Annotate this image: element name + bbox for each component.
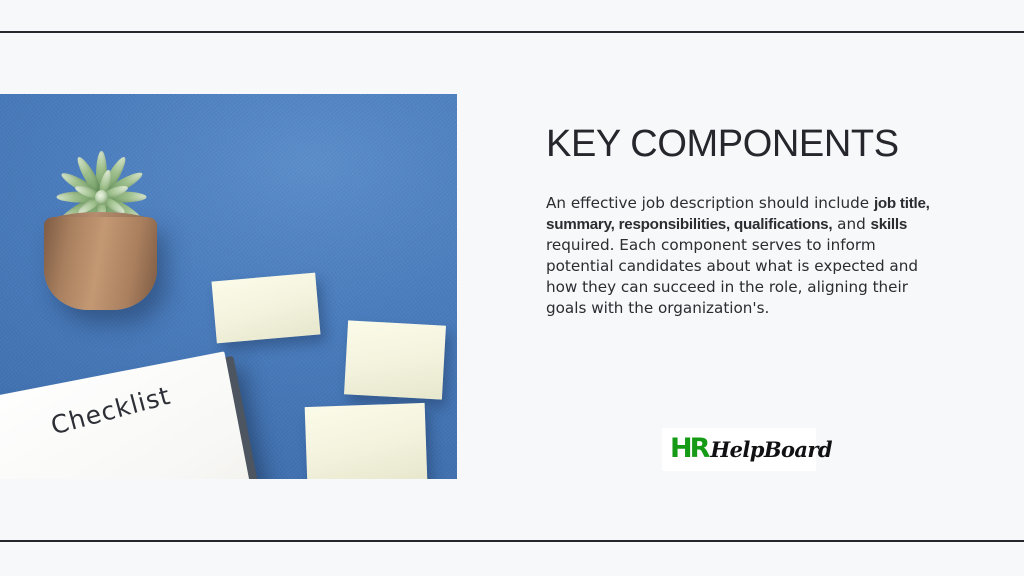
body-middle: and [832, 215, 870, 233]
hr-monogram-icon: HR [670, 435, 707, 462]
sticky-note [305, 403, 428, 479]
page-perforation [0, 407, 18, 479]
logo-wordmark: HelpBoard [710, 439, 832, 460]
bottom-divider-rule [0, 540, 1024, 542]
hero-photo: Checklist [0, 94, 457, 479]
body-tail: required. Each component serves to infor… [546, 236, 918, 317]
hrhelpboard-logo: HR HelpBoard [662, 428, 816, 471]
sticky-note [344, 320, 446, 399]
body-lead: An effective job description should incl… [546, 194, 874, 212]
sticky-note [211, 273, 320, 344]
page-title: KEY COMPONENTS [546, 123, 899, 166]
top-divider-rule [0, 31, 1024, 33]
body-paragraph: An effective job description should incl… [546, 193, 940, 319]
terracotta-pot [44, 217, 157, 310]
body-emphasis-secondary: skills [871, 216, 908, 233]
notebook-handwritten-title: Checklist [48, 381, 174, 441]
slide-canvas: Checklist KEY COMPONENTS An effective jo… [0, 0, 1024, 576]
